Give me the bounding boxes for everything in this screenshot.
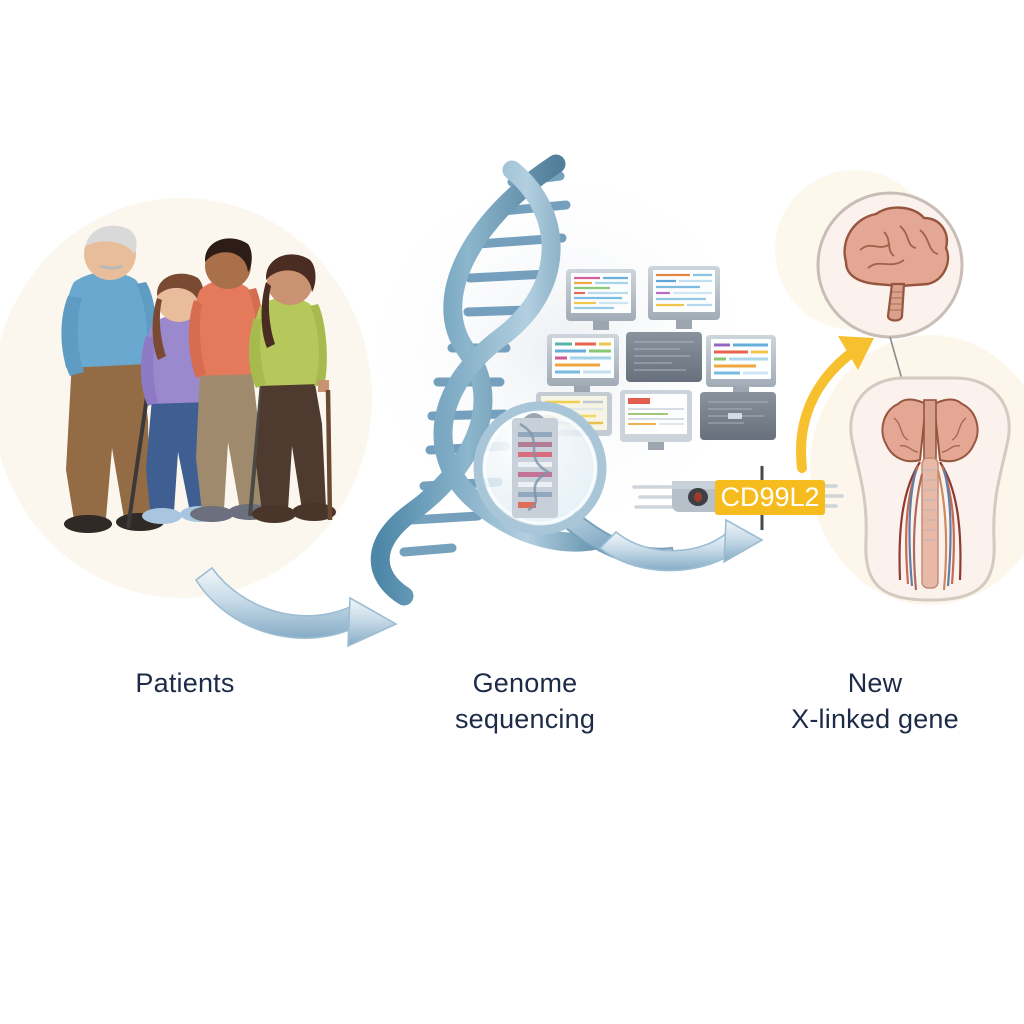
caption-genome-sequencing: Genome sequencing xyxy=(380,666,670,738)
caption-genome-line1: Genome xyxy=(380,666,670,702)
figure-canvas: CD99L2 xyxy=(0,0,1024,1024)
caption-new-gene: New X-linked gene xyxy=(725,666,1024,738)
caption-patients: Patients xyxy=(40,666,330,702)
caption-gene-line1: New xyxy=(725,666,1024,702)
arrow-layer xyxy=(0,0,1024,1024)
arrow-sequencing-to-gene xyxy=(600,532,740,571)
caption-patients-text: Patients xyxy=(135,668,234,698)
arrow-gene-to-brain xyxy=(801,348,858,468)
caption-genome-line2: sequencing xyxy=(380,702,670,738)
arrow-patients-to-sequencing xyxy=(196,568,358,638)
caption-gene-line2: X-linked gene xyxy=(725,702,1024,738)
